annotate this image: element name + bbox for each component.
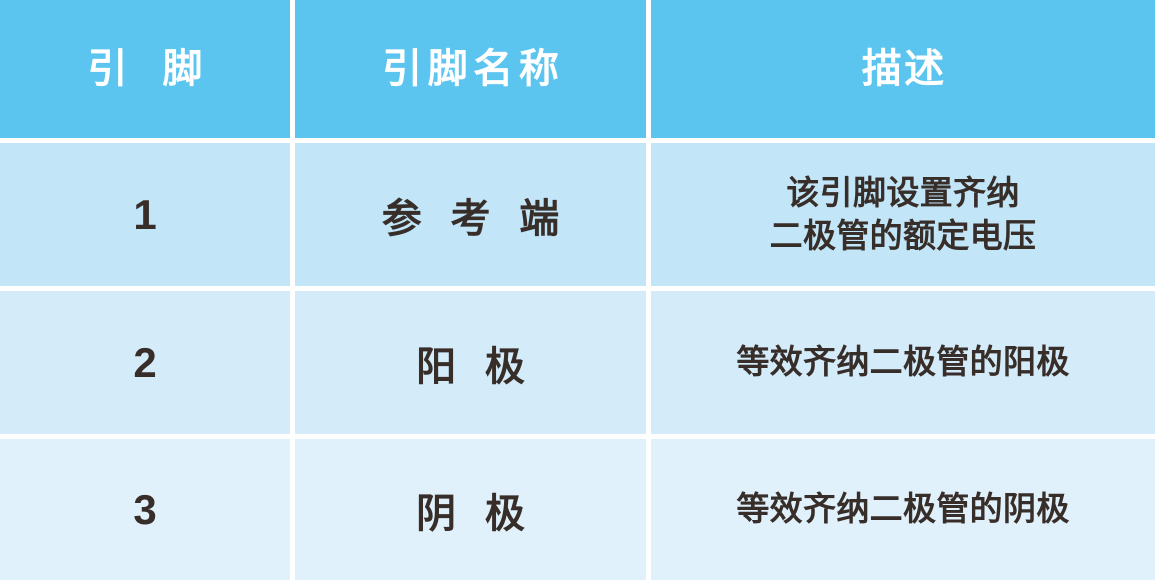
table-row: 3 阴 极 等效齐纳二极管的阴极 (0, 439, 1155, 580)
cell-pin-name: 阳 极 (295, 291, 651, 439)
description-line: 二极管的额定电压 (651, 215, 1155, 258)
description-line: 等效齐纳二极管的阴极 (651, 488, 1155, 531)
table-row: 2 阳 极 等效齐纳二极管的阳极 (0, 291, 1155, 439)
description-line: 该引脚设置齐纳 (651, 172, 1155, 215)
table-header-row: 引 脚 引脚名称 描述 (0, 0, 1155, 143)
column-header-description: 描述 (651, 0, 1155, 143)
cell-pin-number: 1 (0, 143, 295, 291)
column-header-pin: 引 脚 (0, 0, 295, 143)
pin-description-table: 引 脚 引脚名称 描述 1 参 考 端 该引脚设置齐纳 二极管的额定电压 2 阳… (0, 0, 1155, 580)
cell-description: 等效齐纳二极管的阳极 (651, 291, 1155, 439)
table-body: 1 参 考 端 该引脚设置齐纳 二极管的额定电压 2 阳 极 等效齐纳二极管的阳… (0, 143, 1155, 580)
table-row: 1 参 考 端 该引脚设置齐纳 二极管的额定电压 (0, 143, 1155, 291)
cell-description: 该引脚设置齐纳 二极管的额定电压 (651, 143, 1155, 291)
cell-pin-name: 阴 极 (295, 439, 651, 580)
cell-pin-number: 3 (0, 439, 295, 580)
column-header-pin-name: 引脚名称 (295, 0, 651, 143)
cell-pin-name: 参 考 端 (295, 143, 651, 291)
cell-description: 等效齐纳二极管的阴极 (651, 439, 1155, 580)
cell-pin-number: 2 (0, 291, 295, 439)
table-header: 引 脚 引脚名称 描述 (0, 0, 1155, 143)
description-line: 等效齐纳二极管的阳极 (651, 341, 1155, 384)
